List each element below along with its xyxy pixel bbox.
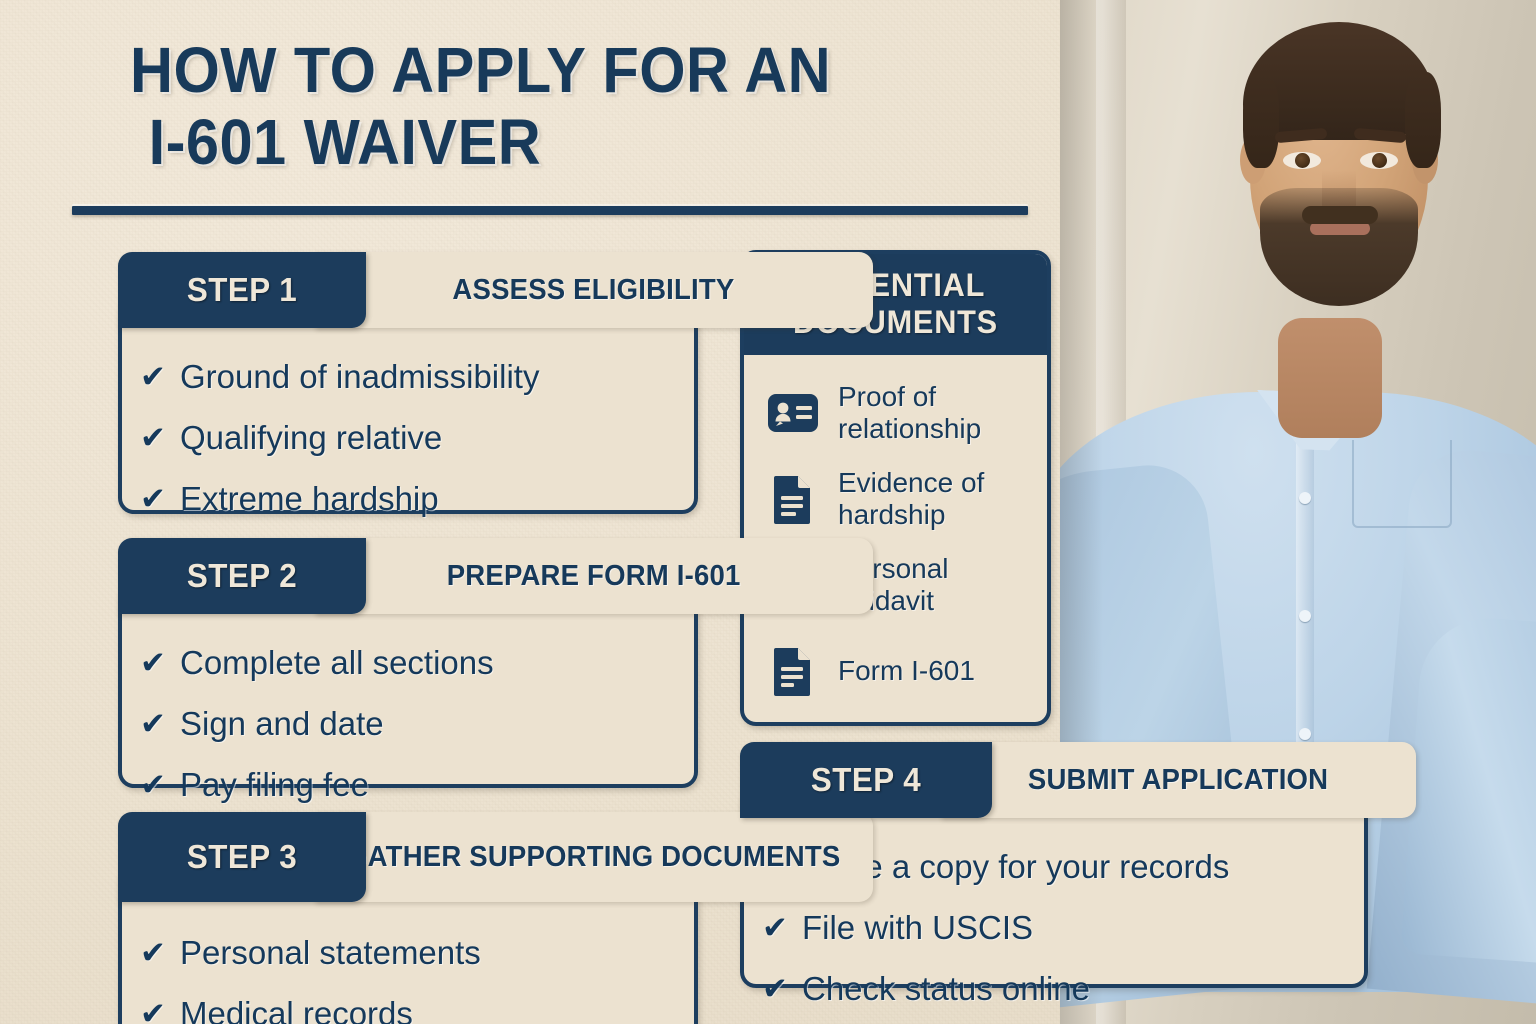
list-item-label: Form I-601 [838,655,975,687]
list-item: ✔ Qualifying relative [140,407,680,468]
check-icon: ✔ [140,693,166,754]
list-item: ✔ Complete all sections [140,632,680,693]
step-card-4-title: SUBMIT APPLICATION [940,742,1416,818]
step-card-1[interactable]: ASSESS ELIGIBILITY STEP 1 ✔ Ground of in… [118,252,698,514]
document-icon [766,472,820,526]
list-item: ✔ Medical records [140,983,680,1024]
list-item: ✔ Extreme hardship [140,468,680,529]
form-document-icon [766,644,820,698]
step-2-checklist: ✔ Complete all sections ✔ Sign and date … [118,618,698,815]
list-item: Form I-601 [766,634,1037,708]
check-icon: ✔ [762,958,788,1019]
step-card-1-badge: STEP 1 [118,252,366,328]
list-item-label: Ground of inadmissibility [180,346,540,407]
step-card-2-badge: STEP 2 [118,538,366,614]
list-item-label: Personal statements [180,922,481,983]
list-item: Proof of relationship [766,376,1037,450]
check-icon: ✔ [140,632,166,693]
list-item: ✔ Ground of inadmissibility [140,346,680,407]
step-card-3[interactable]: GATHER SUPPORTING DOCUMENTS STEP 3 ✔ Per… [118,812,698,1024]
list-item-label: Qualifying relative [180,407,442,468]
check-icon: ✔ [140,468,166,529]
step-1-checklist: ✔ Ground of inadmissibility ✔ Qualifying… [118,332,698,529]
page-title-line-2: I-601 WAIVER [130,106,967,178]
list-item: ✔ Personal statements [140,922,680,983]
step-card-1-title: ASSESS ELIGIBILITY [314,252,873,328]
list-item: Evidence of hardship [766,462,1037,536]
step-1-badge-text: STEP 1 [187,271,297,309]
list-item-label: Proof of relationship [838,381,1037,445]
step-2-badge-text: STEP 2 [187,557,297,595]
id-card-icon [766,386,820,440]
step-card-2[interactable]: PREPARE FORM I-601 STEP 2 ✔ Complete all… [118,538,698,788]
check-icon: ✔ [140,983,166,1024]
list-item-label: Medical records [180,983,413,1024]
step-4-title-text: SUBMIT APPLICATION [1028,765,1328,796]
title-divider [72,206,1028,215]
step-card-3-badge: STEP 3 [118,812,366,902]
list-item: ✔ Check status online [762,958,1350,1019]
list-item-label: Pay filing fee [180,754,369,815]
step-3-checklist: ✔ Personal statements ✔ Medical records … [118,908,698,1024]
list-item: ✔ File with USCIS [762,897,1350,958]
step-card-3-title: GATHER SUPPORTING DOCUMENTS [314,812,873,902]
list-item: ✔ Sign and date [140,693,680,754]
list-item-label: Check status online [802,958,1090,1019]
step-4-badge-text: STEP 4 [811,761,921,799]
step-3-title-text: GATHER SUPPORTING DOCUMENTS [346,842,840,873]
check-icon: ✔ [140,922,166,983]
page-title: HOW TO APPLY FOR AN I-601 WAIVER [130,34,967,178]
list-item-label: File with USCIS [802,897,1033,958]
step-2-title-text: PREPARE FORM I-601 [447,561,741,592]
step-card-2-title: PREPARE FORM I-601 [314,538,873,614]
list-item-label: Complete all sections [180,632,494,693]
page-title-line-1: HOW TO APPLY FOR AN [130,34,831,106]
list-item-label: Evidence of hardship [838,467,1037,531]
list-item: ✔ Pay filing fee [140,754,680,815]
check-icon: ✔ [140,346,166,407]
step-card-4-badge: STEP 4 [740,742,992,818]
step-3-badge-text: STEP 3 [187,838,297,876]
check-icon: ✔ [140,407,166,468]
step-1-title-text: ASSESS ELIGIBILITY [452,275,734,306]
check-icon: ✔ [762,897,788,958]
list-item-label: Sign and date [180,693,384,754]
check-icon: ✔ [140,754,166,815]
infographic-canvas: HOW TO APPLY FOR AN I-601 WAIVER ASSESS … [0,0,1536,1024]
list-item-label: Extreme hardship [180,468,439,529]
